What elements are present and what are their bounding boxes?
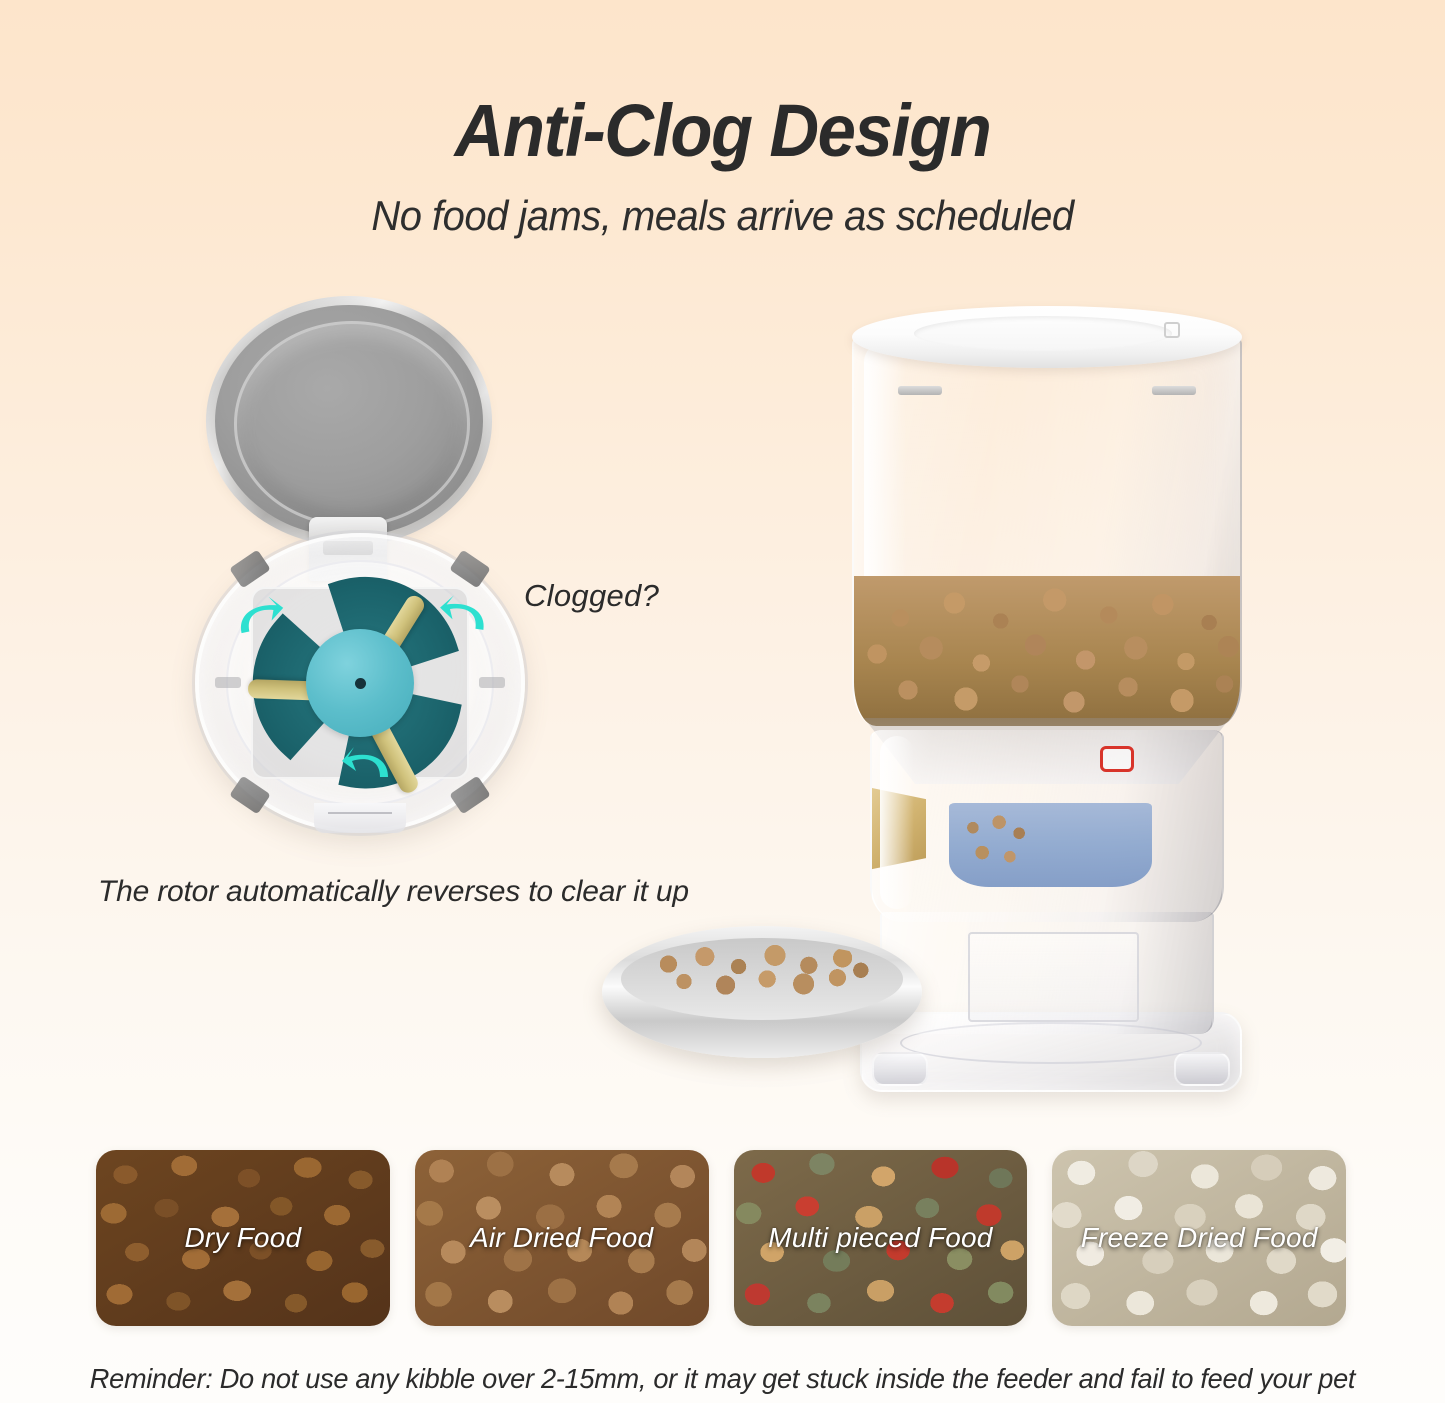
housing-foot-line-icon xyxy=(328,812,392,814)
feeder-dispenser-mechanism xyxy=(870,730,1224,922)
feeder-product-image xyxy=(596,300,1276,1090)
hopper-latch-icon xyxy=(898,386,942,395)
food-type-label: Air Dried Food xyxy=(415,1222,709,1254)
feeder-bowl xyxy=(602,926,922,1058)
food-type-card: Multi pieced Food xyxy=(734,1150,1028,1326)
food-type-card: Freeze Dried Food xyxy=(1052,1150,1346,1326)
hopper-latch-icon xyxy=(1152,386,1196,395)
feeder-lid-open-icon xyxy=(215,305,483,537)
rotor-diagram xyxy=(195,305,525,835)
lower-chamber-icon xyxy=(968,932,1140,1022)
page-headline: Anti-Clog Design xyxy=(51,88,1395,173)
page-subheadline: No food jams, meals arrive as scheduled xyxy=(36,192,1409,240)
kibble-in-hopper xyxy=(854,576,1240,726)
reverse-arrow-icon xyxy=(434,591,494,642)
rotor-housing xyxy=(195,533,525,833)
food-type-row: Dry Food Air Dried Food Multi pieced Foo… xyxy=(96,1150,1346,1326)
food-type-card: Air Dried Food xyxy=(415,1150,709,1326)
food-type-label: Dry Food xyxy=(96,1222,390,1254)
bowl-inner-icon xyxy=(621,938,903,1020)
base-foot-icon xyxy=(872,1052,928,1086)
feeder-lid-icon xyxy=(852,306,1242,368)
rotor-hub-icon xyxy=(306,629,414,737)
lid-badge-icon xyxy=(1164,322,1180,338)
food-type-label: Freeze Dried Food xyxy=(1052,1222,1346,1254)
kibble-in-bowl xyxy=(632,943,891,1005)
reverse-arrow-icon xyxy=(340,745,394,789)
kibble-in-mechanism xyxy=(956,807,1033,876)
rotor-axle-icon xyxy=(355,678,366,689)
feeder-lid-recess-icon xyxy=(914,316,1171,351)
housing-slot-icon xyxy=(479,677,505,688)
housing-slot-icon xyxy=(215,677,241,688)
feeder-hopper xyxy=(852,334,1242,726)
mechanism-highlight-icon xyxy=(880,736,914,909)
red-marker-icon xyxy=(1100,746,1134,772)
housing-foot-icon xyxy=(314,803,406,833)
reminder-text: Reminder: Do not use any kibble over 2-1… xyxy=(22,1363,1424,1395)
food-type-card: Dry Food xyxy=(96,1150,390,1326)
base-foot-icon xyxy=(1174,1052,1230,1086)
food-type-label: Multi pieced Food xyxy=(734,1222,1028,1254)
feeder-lower-column xyxy=(880,912,1214,1034)
